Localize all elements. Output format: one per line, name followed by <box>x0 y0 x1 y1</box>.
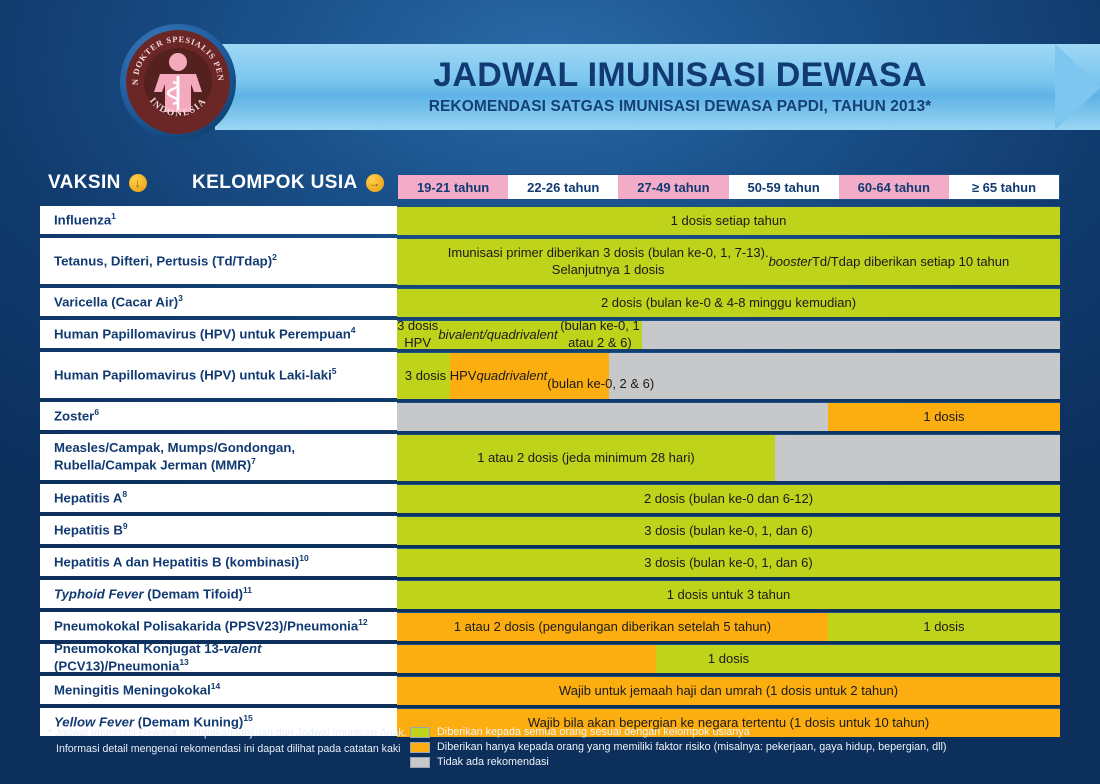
table-row: Typhoid Fever (Demam Tifoid)111 dosis un… <box>40 580 1060 608</box>
column-header-kelompok-usia: KELOMPOK USIA → <box>192 172 384 194</box>
vaccine-name-label: Hepatitis A8 <box>54 489 127 507</box>
vaccine-name-label: Hepatitis B9 <box>54 521 128 539</box>
vaccine-name-label: Zoster6 <box>54 407 99 425</box>
vaccine-name-cell: Human Papillomavirus (HPV) untuk Perempu… <box>40 320 397 348</box>
schedule-bar-cell: 1 atau 2 dosis (pengulangan diberikan se… <box>397 612 1060 640</box>
schedule-bar-cell: 3 dosis HPV quadrivalent(bulan ke-0, 2 &… <box>397 352 1060 398</box>
schedule-bar-cell: 1 atau 2 dosis (jeda minimum 28 hari) <box>397 434 1060 480</box>
table-row: Hepatitis A82 dosis (bulan ke-0 dan 6-12… <box>40 484 1060 512</box>
table-row: Varicella (Cacar Air)32 dosis (bulan ke-… <box>40 288 1060 316</box>
schedule-segment-green[interactable]: 1 atau 2 dosis (jeda minimum 28 hari) <box>397 435 775 481</box>
vaccine-name-label: Human Papillomavirus (HPV) untuk Laki-la… <box>54 366 336 384</box>
schedule-bar-cell: 2 dosis (bulan ke-0 & 4-8 minggu kemudia… <box>397 288 1060 316</box>
papdi-logo: PERHIMPUNAN DOKTER SPESIALIS PENYAKIT DA… <box>118 22 238 142</box>
table-row: Human Papillomavirus (HPV) untuk Perempu… <box>40 320 1060 348</box>
vaccine-name-cell: Influenza1 <box>40 206 397 234</box>
footnote-line-2: Informasi detail mengenai rekomendasi in… <box>48 742 408 758</box>
page-subtitle: REKOMENDASI SATGAS IMUNISASI DEWASA PAPD… <box>429 98 932 116</box>
schedule-segment-green[interactable]: 2 dosis (bulan ke-0 dan 6-12) <box>397 485 1060 513</box>
schedule-bar-cell: Wajib untuk jemaah haji dan umrah (1 dos… <box>397 676 1060 704</box>
schedule-segment-label: 1 dosis <box>397 645 1060 671</box>
legend-item: Tidak ada rekomendasi <box>410 756 1030 768</box>
immunization-schedule-table: Influenza11 dosis setiap tahunTetanus, D… <box>40 206 1060 740</box>
legend-swatch-orange <box>410 742 430 753</box>
vaccine-name-cell: Tetanus, Difteri, Pertusis (Td/Tdap)2 <box>40 238 397 284</box>
vaccine-name-label: Varicella (Cacar Air)3 <box>54 293 183 311</box>
legend: Diberikan kepada semua orang sesuai deng… <box>410 726 1030 771</box>
schedule-segment-green[interactable]: 1 dosis untuk 3 tahun <box>397 581 1060 609</box>
title-block: JADWAL IMUNISASI DEWASA REKOMENDASI SATG… <box>300 50 1060 124</box>
vaccine-name-cell: Hepatitis A8 <box>40 484 397 512</box>
age-group-header: 19-21 tahun22-26 tahun27-49 tahun50-59 t… <box>397 174 1060 200</box>
schedule-bar-cell: 1 dosis setiap tahun <box>397 206 1060 234</box>
schedule-segment-gray[interactable] <box>775 435 1060 481</box>
schedule-segment-green[interactable]: 3 dosis (bulan ke-0, 1, dan 6) <box>397 517 1060 545</box>
schedule-segment-gray[interactable] <box>397 403 828 431</box>
schedule-segment-orange[interactable]: 1 atau 2 dosis (pengulangan diberikan se… <box>397 613 828 641</box>
schedule-bar-cell: 1 dosis <box>397 402 1060 430</box>
age-group-2[interactable]: 22-26 tahun <box>508 175 618 199</box>
vaccine-name-cell: Hepatitis B9 <box>40 516 397 544</box>
age-group-3[interactable]: 27-49 tahun <box>618 175 728 199</box>
age-group-1[interactable]: 19-21 tahun <box>398 175 508 199</box>
vaccine-name-label: Pneumokokal Konjugat 13-valent (PCV13)/P… <box>54 641 397 675</box>
vaccine-name-cell: Typhoid Fever (Demam Tifoid)11 <box>40 580 397 608</box>
schedule-segment-orange[interactable]: Wajib untuk jemaah haji dan umrah (1 dos… <box>397 677 1060 705</box>
footnote: * Jadwal Imunisasi Dewasa merupakan lanj… <box>48 726 408 758</box>
schedule-segment-green[interactable]: 3 dosis (bulan ke-0, 1, dan 6) <box>397 549 1060 577</box>
schedule-segment-green[interactable]: 2 dosis (bulan ke-0 & 4-8 minggu kemudia… <box>397 289 1060 317</box>
page-title: JADWAL IMUNISASI DEWASA <box>433 58 927 94</box>
age-group-4[interactable]: 50-59 tahun <box>729 175 839 199</box>
legend-label: Tidak ada rekomendasi <box>437 756 549 768</box>
schedule-segment-gray[interactable] <box>642 321 1060 349</box>
vaksin-label: VAKSIN <box>48 172 121 194</box>
table-row: Human Papillomavirus (HPV) untuk Laki-la… <box>40 352 1060 398</box>
banner-arrow-point <box>1055 44 1100 130</box>
schedule-segment-orange[interactable]: 3 dosis HPV quadrivalent(bulan ke-0, 2 &… <box>450 353 609 399</box>
table-row: Hepatitis A dan Hepatitis B (kombinasi)1… <box>40 548 1060 576</box>
vaccine-name-label: Meningitis Meningokokal14 <box>54 681 220 699</box>
age-group-6[interactable]: ≥ 65 tahun <box>949 175 1059 199</box>
schedule-segment-green[interactable]: 3 dosis HPV bivalent/quadrivalent (bulan… <box>397 321 642 349</box>
vaccine-name-label: Tetanus, Difteri, Pertusis (Td/Tdap)2 <box>54 252 277 270</box>
schedule-segment-gray[interactable] <box>609 353 1060 399</box>
table-row: Pneumokokal Polisakarida (PPSV23)/Pneumo… <box>40 612 1060 640</box>
vaccine-name-label: Measles/Campak, Mumps/Gondongan,Rubella/… <box>54 440 295 474</box>
schedule-segment-green[interactable]: 1 dosis <box>828 613 1060 641</box>
vaccine-name-cell: Varicella (Cacar Air)3 <box>40 288 397 316</box>
legend-swatch-green <box>410 727 430 738</box>
papdi-logo-svg: PERHIMPUNAN DOKTER SPESIALIS PENYAKIT DA… <box>118 22 238 142</box>
legend-label: Diberikan hanya kepada orang yang memili… <box>437 741 947 753</box>
table-row: Zoster61 dosis <box>40 402 1060 430</box>
vaccine-name-cell: Human Papillomavirus (HPV) untuk Laki-la… <box>40 352 397 398</box>
schedule-bar-cell: 3 dosis (bulan ke-0, 1, dan 6) <box>397 516 1060 544</box>
schedule-bar-cell: 3 dosis (bulan ke-0, 1, dan 6) <box>397 548 1060 576</box>
vaccine-name-label: Pneumokokal Polisakarida (PPSV23)/Pneumo… <box>54 617 368 635</box>
footnote-line-1: * Jadwal Imunisasi Dewasa merupakan lanj… <box>48 726 408 742</box>
arrow-right-icon: → <box>366 174 384 192</box>
kelompok-usia-label: KELOMPOK USIA <box>192 172 358 194</box>
schedule-bar-cell: Imunisasi primer diberikan 3 dosis (bula… <box>397 238 1060 284</box>
age-group-5[interactable]: 60-64 tahun <box>839 175 949 199</box>
legend-swatch-gray <box>410 757 430 768</box>
table-row: Influenza11 dosis setiap tahun <box>40 206 1060 234</box>
vaccine-name-cell: Pneumokokal Konjugat 13-valent (PCV13)/P… <box>40 644 397 672</box>
vaccine-name-label: Typhoid Fever (Demam Tifoid)11 <box>54 585 252 603</box>
schedule-segment-orange[interactable]: 1 dosis <box>828 403 1060 431</box>
page-header: JADWAL IMUNISASI DEWASA REKOMENDASI SATG… <box>0 0 1100 156</box>
schedule-bar-cell: 1 dosis <box>397 644 1060 672</box>
vaccine-name-cell: Pneumokokal Polisakarida (PPSV23)/Pneumo… <box>40 612 397 640</box>
vaccine-name-label: Human Papillomavirus (HPV) untuk Perempu… <box>54 325 356 343</box>
schedule-segment-green[interactable]: Imunisasi primer diberikan 3 dosis (bula… <box>397 239 1060 285</box>
table-row: Hepatitis B93 dosis (bulan ke-0, 1, dan … <box>40 516 1060 544</box>
table-row: Pneumokokal Konjugat 13-valent (PCV13)/P… <box>40 644 1060 672</box>
vaccine-name-cell: Meningitis Meningokokal14 <box>40 676 397 704</box>
table-row: Measles/Campak, Mumps/Gondongan,Rubella/… <box>40 434 1060 480</box>
table-row: Tetanus, Difteri, Pertusis (Td/Tdap)2Imu… <box>40 238 1060 284</box>
schedule-bar-cell: 2 dosis (bulan ke-0 dan 6-12) <box>397 484 1060 512</box>
arrow-down-icon: ↓ <box>129 174 147 192</box>
legend-item: Diberikan hanya kepada orang yang memili… <box>410 741 1030 753</box>
table-row: Meningitis Meningokokal14Wajib untuk jem… <box>40 676 1060 704</box>
legend-item: Diberikan kepada semua orang sesuai deng… <box>410 726 1030 738</box>
vaccine-name-cell: Hepatitis A dan Hepatitis B (kombinasi)1… <box>40 548 397 576</box>
schedule-bar-cell: 3 dosis HPV bivalent/quadrivalent (bulan… <box>397 320 1060 348</box>
schedule-segment-green[interactable]: 1 dosis setiap tahun <box>397 207 1060 235</box>
schedule-bar-cell: 1 dosis untuk 3 tahun <box>397 580 1060 608</box>
column-header-vaksin: VAKSIN ↓ <box>48 172 147 194</box>
vaccine-name-cell: Measles/Campak, Mumps/Gondongan,Rubella/… <box>40 434 397 480</box>
vaccine-name-label: Hepatitis A dan Hepatitis B (kombinasi)1… <box>54 553 309 571</box>
vaccine-name-label: Influenza1 <box>54 211 116 229</box>
legend-label: Diberikan kepada semua orang sesuai deng… <box>437 726 750 738</box>
vaccine-name-cell: Zoster6 <box>40 402 397 430</box>
